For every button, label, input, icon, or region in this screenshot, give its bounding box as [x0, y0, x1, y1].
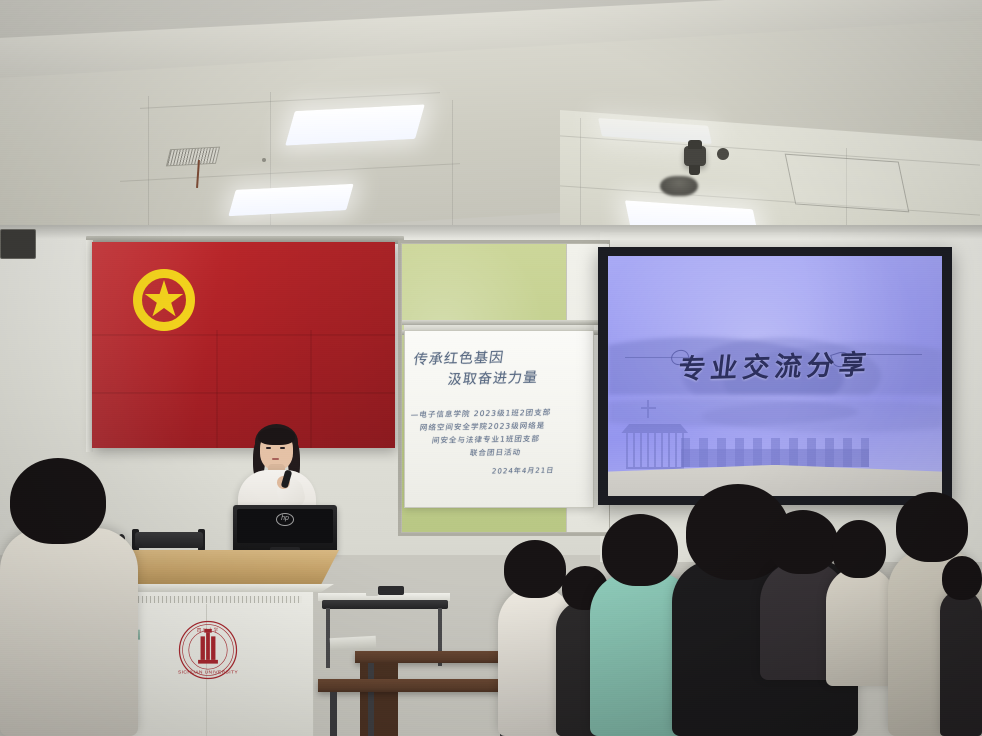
flag-crease — [216, 330, 218, 448]
desk-leg — [368, 663, 374, 736]
flag-crease — [92, 392, 395, 394]
student-desk — [318, 679, 518, 692]
whiteboard-slide-rail[interactable] — [402, 320, 606, 325]
projector-mount — [684, 146, 706, 166]
gate-roof — [621, 424, 688, 434]
whiteboard-sub-line3: 间安全与法律专业1班团支部 — [431, 433, 540, 446]
whiteboard-headline-line1: 传承红色基因 — [413, 347, 506, 369]
ceiling-access-hatch — [785, 154, 910, 213]
ceiling-sensor-icon — [717, 148, 729, 160]
air-vent-icon — [166, 147, 220, 167]
student-head — [768, 510, 838, 574]
student-s8 — [940, 590, 982, 736]
student-desk — [355, 651, 519, 663]
ceiling-fixture-dot — [262, 158, 266, 162]
gate-body — [626, 433, 684, 469]
youth-league-star-emblem-icon — [133, 269, 195, 331]
student-torso — [940, 590, 982, 736]
projection-screen-surface: 专业交流分享 — [608, 256, 942, 496]
whiteboard-sub-line2: 网络空间安全学院2023级网络是 — [419, 420, 546, 433]
desk-modesty-panel — [360, 663, 398, 736]
student-s6 — [826, 566, 896, 686]
student-head — [504, 540, 566, 598]
side-table-rail — [322, 600, 448, 609]
podium-vent-grille — [110, 596, 302, 603]
stacked-papers — [330, 636, 377, 650]
ceiling-speaker-icon — [660, 176, 698, 196]
desk-tray — [378, 586, 404, 595]
whiteboard-headline-line2: 汲取奋进力量 — [447, 367, 540, 389]
student-head — [942, 556, 982, 600]
student-s-fg-left — [0, 528, 138, 736]
ceiling-tile-seam — [452, 100, 453, 240]
student-torso — [826, 566, 896, 686]
hp-logo-icon: hp — [276, 513, 294, 526]
student-head — [602, 514, 678, 586]
slide-city-wall-motif — [681, 438, 868, 467]
whiteboard-sub-line4: 联合团日活动 — [469, 447, 521, 459]
presenter-fringe — [258, 428, 295, 445]
gate-flagpole-cross — [641, 407, 655, 409]
flag-crease — [310, 330, 312, 448]
student-head — [832, 520, 886, 578]
classroom-photo: 传承红色基因 汲取奋进力量 —电子信息学院 2023级1班2团支部 网络空间安全… — [0, 0, 982, 736]
wall-speaker-icon — [0, 229, 36, 259]
desk-leg — [330, 692, 337, 736]
desk-item — [366, 589, 378, 596]
ceiling-tile-seam — [148, 96, 149, 228]
student-torso — [0, 528, 138, 736]
student-head — [10, 458, 106, 544]
whiteboard-date: 2024年4月21日 — [491, 465, 555, 476]
projector-mount-bracket — [688, 140, 702, 149]
student-head — [896, 492, 968, 562]
flag-crease — [92, 334, 395, 336]
projector-lens — [689, 165, 700, 175]
svg-text:四川大学: 四川大学 — [197, 626, 219, 633]
podium-mic-unit[interactable] — [135, 532, 203, 548]
svg-text:SICHUAN UNIVERSITY: SICHUAN UNIVERSITY — [178, 670, 238, 676]
sichuan-university-emblem-icon: SICHUAN UNIVERSITY 四川大学 — [177, 619, 239, 681]
